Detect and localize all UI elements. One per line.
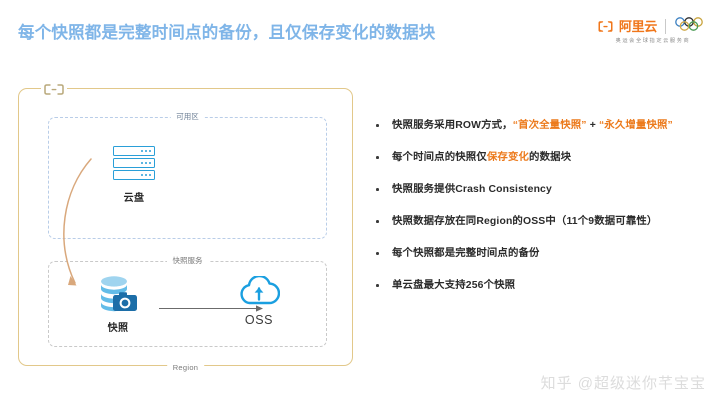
region-container: 可用区 云盘 快照服务 [18, 88, 353, 366]
server-stack-icon [113, 146, 155, 180]
olympic-rings-icon [674, 17, 708, 36]
bullet-text: 快照服务提供Crash Consistency [392, 184, 552, 195]
bullet-text: 单云盘最大支持256个快照 [392, 280, 515, 291]
availability-zone-label: 可用区 [170, 111, 205, 122]
cloud-disk-label: 云盘 [124, 189, 145, 204]
bullet-text: + [587, 120, 599, 131]
snapshot-node: 快照 [79, 274, 157, 334]
oss-label: OSS [245, 313, 273, 327]
page-title: 每个快照都是完整时间点的备份，且仅保存变化的数据块 [18, 19, 436, 43]
list-item: 快照服务采用ROW方式，“首次全量快照” + “永久增量快照” [374, 117, 704, 134]
bullet-highlight-text: 保存变化 [487, 152, 529, 163]
region-bracket-icon [41, 81, 67, 97]
bullet-highlight-text: “永久增量快照” [599, 120, 673, 131]
region-label: Region [167, 363, 205, 372]
bullet-text: 快照服务采用ROW方式， [392, 120, 513, 131]
list-item: 每个快照都是完整时间点的备份 [374, 245, 704, 262]
brand-subtitle: 奥运会全球指定云服务商 [616, 37, 691, 44]
list-item: 每个时间点的快照仅保存变化的数据块 [374, 149, 704, 166]
list-item: 快照数据存放在同Region的OSS中（11个9数据可靠性） [374, 213, 704, 230]
brand-divider [665, 19, 666, 34]
zhihu-watermark: 知乎 @超级迷你芊宝宝 [541, 372, 706, 393]
bullet-dot-icon [376, 220, 379, 223]
snapshot-label: 快照 [108, 319, 129, 334]
page-header: 每个快照都是完整时间点的备份，且仅保存变化的数据块 阿里云 [0, 0, 720, 58]
brand-name: 阿里云 [619, 20, 657, 33]
brand-row: 阿里云 [598, 18, 708, 34]
snapshot-service-box: 快照服务 快照 [48, 261, 327, 347]
brand-lockup: 阿里云 奥运会全球指定云服务商 [598, 18, 708, 44]
availability-zone-box: 可用区 云盘 [48, 117, 327, 239]
alibaba-cloud-mark-icon [598, 20, 613, 33]
list-item: 单云盘最大支持256个快照 [374, 277, 704, 294]
snapshot-service-label: 快照服务 [167, 255, 209, 266]
bullet-dot-icon [376, 124, 379, 127]
bullet-dot-icon [376, 156, 379, 159]
bullet-text: 快照数据存放在同Region的OSS中（11个9数据可靠性） [392, 216, 657, 227]
cloud-upload-icon [238, 276, 280, 307]
cloud-disk-node: 云盘 [91, 146, 177, 204]
bullet-text: 每个快照都是完整时间点的备份 [392, 248, 540, 259]
oss-node: OSS [220, 276, 298, 327]
bullet-list: 快照服务采用ROW方式，“首次全量快照” + “永久增量快照”每个时间点的快照仅… [374, 117, 704, 294]
list-item: 快照服务提供Crash Consistency [374, 181, 704, 198]
bullet-dot-icon [376, 252, 379, 255]
bullet-highlight-text: “首次全量快照” [513, 120, 587, 131]
bullet-text: 每个时间点的快照仅 [392, 152, 487, 163]
bullet-dot-icon [376, 284, 379, 287]
database-camera-icon [97, 274, 139, 314]
bullet-text: 的数据块 [529, 152, 571, 163]
bullet-dot-icon [376, 188, 379, 191]
